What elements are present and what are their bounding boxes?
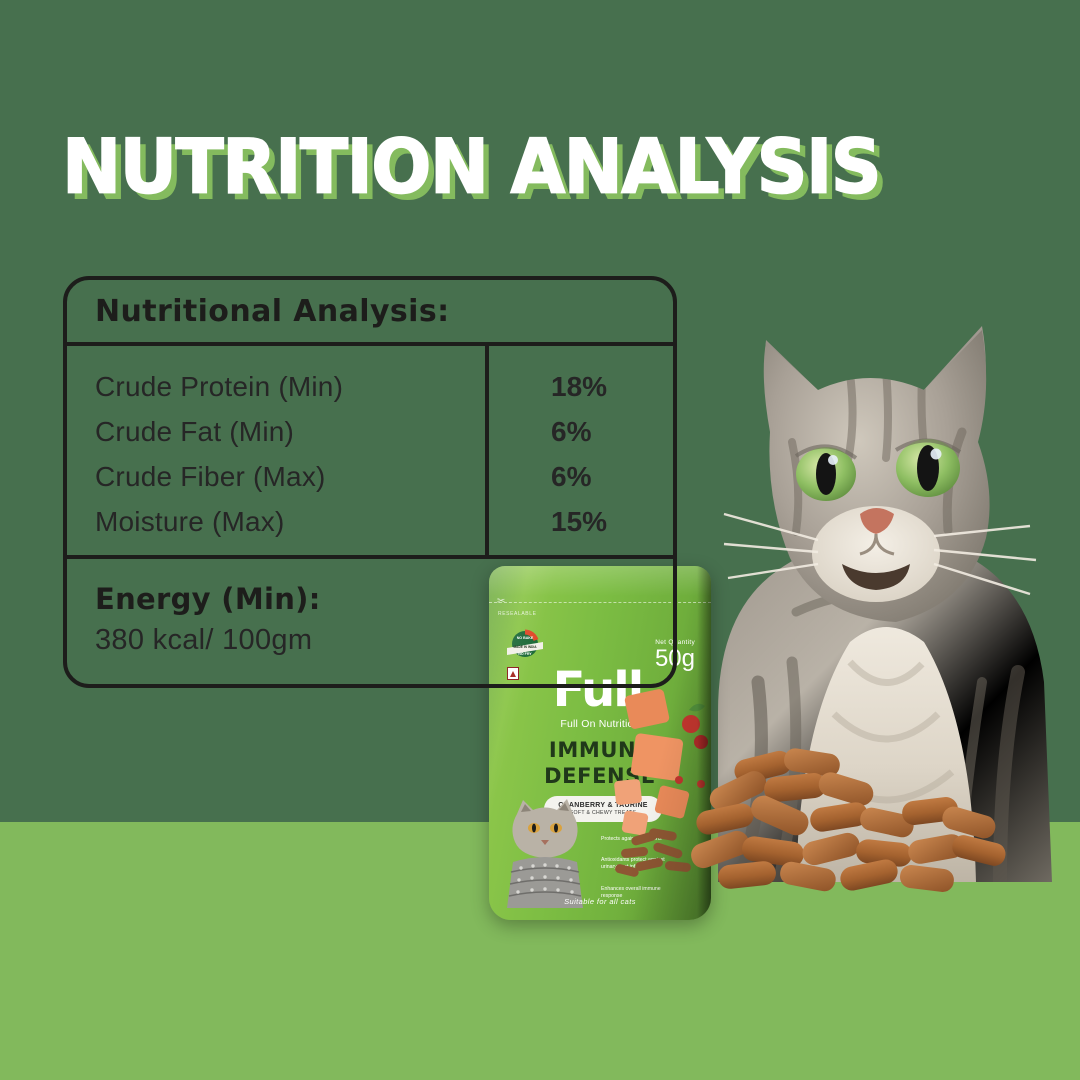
table-row: Crude Fiber (Max)	[95, 454, 485, 499]
energy-label: Energy (Min):	[95, 579, 673, 619]
table-cell-value: 18%	[551, 364, 673, 409]
energy-row: Energy (Min): 380 kcal/ 100gm	[67, 563, 673, 688]
table-row: Moisture (Max)	[95, 499, 485, 544]
table-column-values: 18% 6% 6% 15%	[489, 346, 673, 555]
table-cell-value: 6%	[551, 409, 673, 454]
suitable-for-text: Suitable for all cats	[489, 897, 711, 906]
table-row: Crude Fat (Min)	[95, 409, 485, 454]
pack-cat-illustration	[499, 796, 591, 908]
table-row: Crude Protein (Min)	[95, 364, 485, 409]
page-title: NUTRITION ANALYSIS	[62, 131, 880, 206]
table-title: Nutritional Analysis:	[95, 294, 450, 329]
table-header-row: Nutritional Analysis:	[67, 280, 673, 346]
poster-canvas: NUTRITION ANALYSIS	[0, 0, 1080, 1080]
table-cell-value: 15%	[551, 499, 673, 544]
energy-value: 380 kcal/ 100gm	[95, 619, 673, 661]
table-body: Crude Protein (Min) Crude Fat (Min) Crud…	[67, 346, 673, 559]
nutrition-analysis-table: Nutritional Analysis: Crude Protein (Min…	[63, 276, 677, 688]
table-column-labels: Crude Protein (Min) Crude Fat (Min) Crud…	[67, 346, 489, 555]
table-cell-value: 6%	[551, 454, 673, 499]
treat-pile-image	[690, 745, 1020, 895]
